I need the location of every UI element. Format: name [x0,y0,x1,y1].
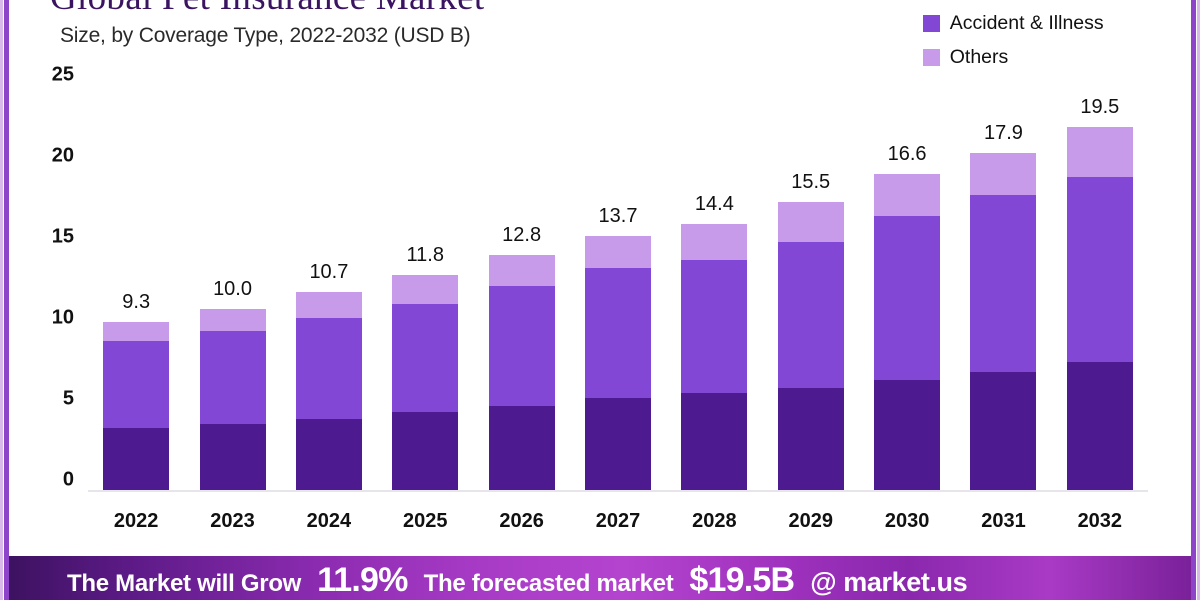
bar-value-label: 9.3 [122,291,150,314]
bar-segment[interactable] [1067,177,1133,362]
bar-segment[interactable] [489,255,555,286]
bar-segment[interactable] [585,398,651,490]
chart-header: Global Pet Insurance Market Size, by Cov… [0,0,760,48]
bar-segment[interactable] [874,174,940,216]
y-axis-tick-label: 20 [52,145,74,168]
page-title: Global Pet Insurance Market [50,0,760,18]
y-axis-tick-label: 15 [52,226,74,249]
x-axis-tick-label: 2030 [885,510,930,533]
bar-value-label: 13.7 [599,205,638,228]
bar-value-label: 15.5 [791,171,830,194]
bar-segment[interactable] [1067,127,1133,177]
bar-segment[interactable] [200,309,266,332]
bar-segment[interactable] [1067,362,1133,490]
bar-segment[interactable] [970,153,1036,195]
right-edge-accent [1191,0,1196,600]
bar-segment[interactable] [970,372,1036,490]
bar-segment[interactable] [296,419,362,490]
legend-item-others[interactable]: Others [923,44,1108,70]
left-edge-accent [4,0,9,600]
bar-segment[interactable] [585,236,651,268]
bar-segment[interactable] [103,341,169,428]
bar-segment[interactable] [778,388,844,490]
bar-value-label: 10.0 [213,278,252,301]
chart-subtitle: Size, by Coverage Type, 2022-2032 (USD B… [60,24,760,48]
bar-segment[interactable] [489,406,555,490]
bar-segment[interactable] [489,286,555,406]
legend-item-label: Accident & Illness [950,12,1104,35]
bar-segment[interactable] [392,275,458,304]
x-axis: 2022202320242025202620272028202920302031… [88,492,1148,532]
x-axis-tick-label: 2029 [788,510,833,533]
legend-swatch-icon [923,49,940,66]
banner-cagr-value: 11.9% [317,561,408,600]
banner-brand: @ market.us [810,567,967,598]
bar-segment[interactable] [296,292,362,318]
bar-segment[interactable] [681,260,747,393]
x-axis-tick-label: 2023 [210,510,255,533]
y-axis-tick-label: 5 [63,388,74,411]
legend-item-lifetime[interactable]: Lifetime Coverage [923,0,1108,2]
bar-value-label: 12.8 [502,224,541,247]
x-axis-tick-label: 2026 [499,510,544,533]
legend-item-accident[interactable]: Accident & Illness [923,10,1108,36]
bar-value-label: 17.9 [984,122,1023,145]
plot-area: 9.310.010.711.812.813.714.415.516.617.91… [88,85,1148,490]
y-axis: 0510152025 [0,75,80,490]
bar-segment[interactable] [585,268,651,398]
x-axis-tick-label: 2031 [981,510,1026,533]
bar-segment[interactable] [296,318,362,418]
chart-legend: Lifetime CoverageAccident & IllnessOther… [923,0,1108,78]
bar-segment[interactable] [103,428,169,490]
bar-segment[interactable] [392,304,458,413]
legend-swatch-icon [923,15,940,32]
x-axis-tick-label: 2025 [403,510,448,533]
bar-value-label: 19.5 [1080,96,1119,119]
x-axis-tick-label: 2022 [114,510,159,533]
y-axis-tick-label: 25 [52,64,74,87]
banner-row: The Market will Grow 11.9% The forecaste… [9,561,1191,600]
bar-value-label: 11.8 [407,244,444,267]
y-axis-tick-label: 10 [52,307,74,330]
bar-segment[interactable] [874,216,940,380]
legend-item-label: Others [950,46,1009,69]
x-axis-tick-label: 2024 [307,510,352,533]
infographic-canvas: Global Pet Insurance Market Size, by Cov… [0,0,1200,600]
bar-segment[interactable] [778,202,844,243]
x-axis-tick-label: 2028 [692,510,737,533]
banner-forecast-label: The forecasted market [424,570,674,598]
bar-segment[interactable] [778,242,844,388]
bar-segment[interactable] [200,331,266,423]
legend-item-label: Lifetime Coverage [950,0,1108,1]
left-edge-accent-light [0,0,3,600]
x-axis-tick-label: 2027 [596,510,641,533]
bottom-banner: The Market will Grow 11.9% The forecaste… [9,556,1191,600]
bar-segment[interactable] [392,412,458,490]
bar-value-label: 10.7 [309,261,348,284]
bar-segment[interactable] [874,380,940,490]
bar-segment[interactable] [681,393,747,490]
bar-segment[interactable] [103,322,169,341]
banner-grow-label: The Market will Grow [67,570,301,598]
bar-value-label: 16.6 [888,143,927,166]
y-axis-tick-label: 0 [63,469,74,492]
bar-segment[interactable] [200,424,266,490]
x-axis-tick-label: 2032 [1078,510,1123,533]
bar-segment[interactable] [970,195,1036,372]
banner-forecast-value: $19.5B [689,561,794,600]
bar-value-label: 14.4 [695,193,734,216]
bar-segment[interactable] [681,224,747,260]
